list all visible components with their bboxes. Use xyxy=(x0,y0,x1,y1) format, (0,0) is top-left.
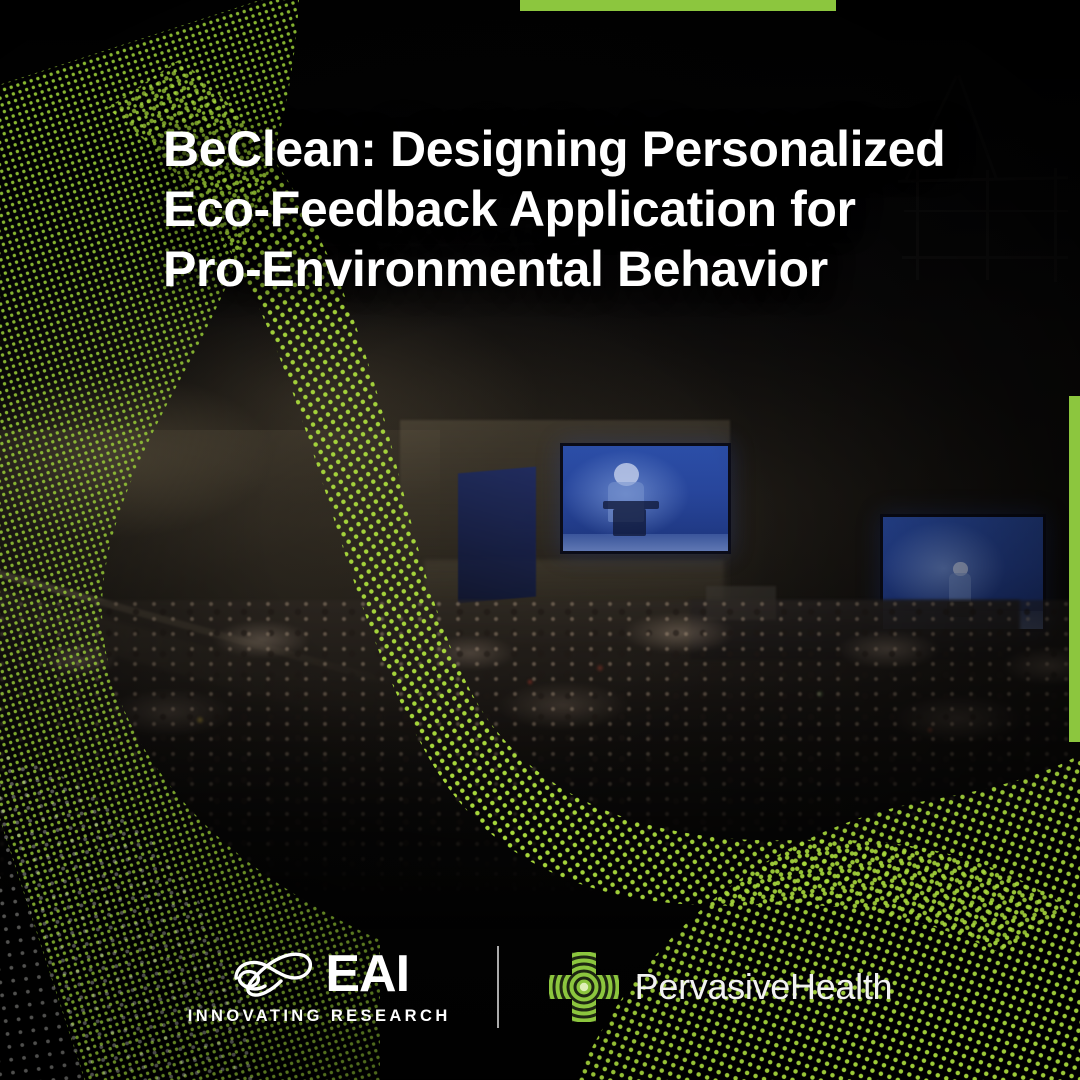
page-title: BeClean: Designing Personalized Eco-Feed… xyxy=(163,119,953,299)
eai-infinity-ribbon-icon xyxy=(229,948,315,1000)
eai-wordmark: EAI xyxy=(325,948,409,1000)
pervasive-health-wordmark: PervasiveHealth xyxy=(635,966,893,1008)
footer-logo-band: EAI INNOVATING RESEARCH xyxy=(0,946,1080,1028)
eai-tagline: INNOVATING RESEARCH xyxy=(188,1007,451,1026)
top-accent-bar xyxy=(520,0,836,11)
green-medical-cross-signal-icon xyxy=(547,950,621,1024)
logo-divider xyxy=(497,946,499,1028)
right-accent-bar xyxy=(1069,396,1080,742)
eai-logo: EAI INNOVATING RESEARCH xyxy=(188,948,497,1026)
pervasive-health-logo: PervasiveHealth xyxy=(499,950,893,1024)
presentation-title-card: BeClean: Designing Personalized Eco-Feed… xyxy=(0,0,1080,1080)
